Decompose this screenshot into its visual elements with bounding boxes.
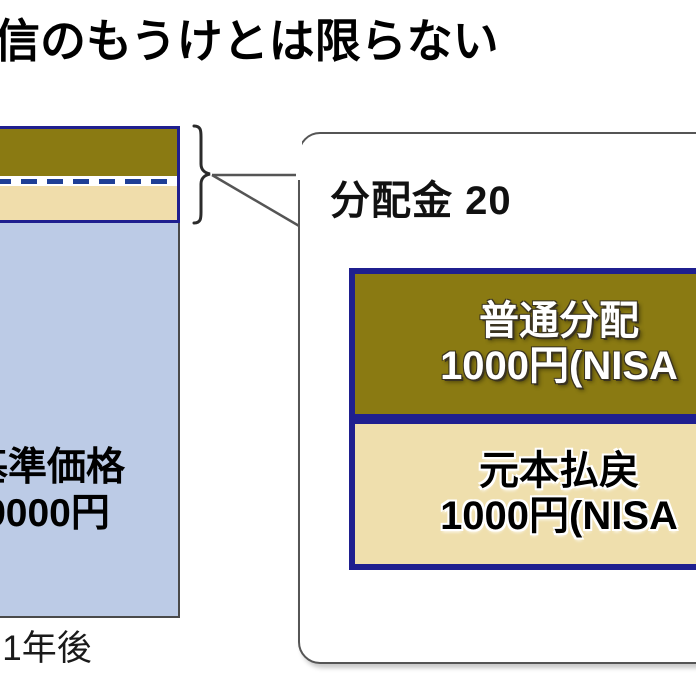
callout-box-ordinary-text: 普通分配 1000円(NISA — [355, 299, 696, 389]
callout-box-ordinary-amount: 1000円(NISA — [355, 344, 696, 389]
callout-heading: 分配金 20 — [330, 168, 696, 226]
distribution-stack — [0, 126, 180, 223]
infographic-canvas: 信のもうけとは限らない 基準価格 9000円 1年後 分配金 20 普通分配 1… — [0, 0, 696, 696]
bar-value-label-line2: 9000円 — [0, 491, 178, 537]
bar-value-label: 基準価格 9000円 — [0, 445, 178, 537]
callout-box-principal-text: 元本払戻 1000円(NISA — [355, 449, 696, 539]
bar-dashed-divider — [0, 176, 177, 186]
callout-box-ordinary-distribution: 普通分配 1000円(NISA — [349, 268, 696, 420]
callout-tail-joint-mask — [296, 134, 302, 180]
bar-value-label-line1: 基準価格 — [0, 446, 125, 489]
callout-box-principal-refund: 元本払戻 1000円(NISA — [349, 418, 696, 570]
stacked-bar-chart: 基準価格 9000円 — [0, 126, 180, 618]
bar-segment-net-asset-value: 基準価格 9000円 — [0, 223, 180, 618]
callout-box-ordinary-label: 普通分配 — [479, 299, 639, 343]
page-title: 信のもうけとは限らない — [0, 16, 634, 67]
callout-box-principal-amount: 1000円(NISA — [355, 494, 696, 539]
callout-box-principal-label: 元本払戻 — [479, 449, 639, 493]
bar-segment-ordinary-distribution — [0, 129, 177, 176]
bar-segment-principal-refund — [0, 186, 177, 220]
bar-axis-label: 1年後 — [0, 620, 180, 671]
